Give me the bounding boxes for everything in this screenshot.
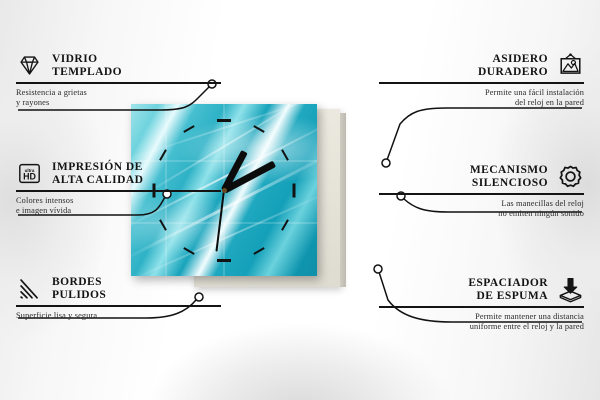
feature-divider (16, 82, 221, 84)
feature-heading: ASIDERO DURADERO (379, 52, 584, 79)
feature-impresion-alta-calidad: ultra HD IMPRESIÓN DE ALTA CALIDAD Color… (16, 160, 221, 216)
feature-divider (16, 305, 221, 307)
feature-sub-line1: Superficie lisa y segura (16, 311, 221, 321)
hour-mark (293, 183, 296, 197)
feature-title-line1: IMPRESIÓN DE (52, 161, 143, 174)
feature-title-line2: DE ESPUMA (468, 290, 548, 303)
feature-title-line2: TEMPLADO (52, 66, 122, 79)
feature-title-line1: ESPACIADOR (468, 277, 548, 290)
hour-mark (217, 259, 231, 262)
hour-mark (281, 219, 289, 230)
glass-grid (131, 222, 317, 224)
feature-divider (379, 306, 584, 308)
feature-title-line1: BORDES (52, 276, 106, 289)
feature-asidero-duradero: ASIDERO DURADERO Permite una fácil insta… (379, 52, 584, 108)
hour-mark (253, 247, 264, 255)
feature-divider (379, 82, 584, 84)
feature-title-line2: ALTA CALIDAD (52, 174, 143, 187)
feature-espaciador-de-espuma: ESPACIADOR DE ESPUMA Permite mantener un… (379, 276, 584, 332)
feature-sub-line2: uniforme entre el reloj y la pared (379, 322, 584, 332)
feature-divider (379, 193, 584, 195)
feature-sub-line2: del reloj en la pared (379, 98, 584, 108)
feature-title-line1: VIDRIO (52, 53, 122, 66)
hour-mark (183, 126, 194, 134)
infographic-canvas: VIDRIO TEMPLADO Resistencia a grietas y … (0, 0, 600, 400)
feature-title-line2: DURADERO (478, 66, 548, 79)
feature-mecanismo-silencioso: MECANISMO SILENCIOSO Las manecillas del … (379, 163, 584, 219)
feature-sub-line1: Las manecillas del reloj (379, 199, 584, 209)
wire-node-espaciador (374, 265, 382, 273)
feature-vidrio-templado: VIDRIO TEMPLADO Resistencia a grietas y … (16, 52, 221, 108)
hour-mark (281, 149, 289, 160)
diamond-icon (16, 52, 43, 79)
feature-title-line1: MECANISMO (470, 164, 548, 177)
feature-heading: ESPACIADOR DE ESPUMA (379, 276, 584, 303)
feature-sub-line1: Colores intensos (16, 196, 221, 206)
feature-sub-line1: Permite una fácil instalación (379, 88, 584, 98)
wire-asidero (387, 108, 582, 160)
feature-sub-line1: Resistencia a grietas (16, 88, 221, 98)
feature-bordes-pulidos: BORDES PULIDOS Superficie lisa y segura (16, 275, 221, 321)
feature-heading: ultra HD IMPRESIÓN DE ALTA CALIDAD (16, 160, 221, 187)
polished-edges-icon (16, 275, 43, 302)
feature-heading: VIDRIO TEMPLADO (16, 52, 221, 79)
hanging-frame-icon (557, 52, 584, 79)
feature-title-line1: ASIDERO (478, 53, 548, 66)
clock-hub (222, 188, 227, 193)
feature-heading: MECANISMO SILENCIOSO (379, 163, 584, 190)
feature-sub-line2: e imagen vívida (16, 206, 221, 216)
feature-sub-line2: y rayones (16, 98, 221, 108)
feature-title-line2: PULIDOS (52, 289, 106, 302)
gear-icon (557, 163, 584, 190)
feature-sub-line2: no emiten ningún sonido (379, 209, 584, 219)
foam-spacer-icon (557, 276, 584, 303)
feature-divider (16, 190, 221, 192)
ultra-hd-icon: ultra HD (16, 160, 43, 187)
hour-mark (217, 119, 231, 122)
feature-heading: BORDES PULIDOS (16, 275, 221, 302)
feature-title-line2: SILENCIOSO (470, 177, 548, 190)
feature-sub-line1: Permite mantener una distancia (379, 312, 584, 322)
ultra-hd-icon-main: HD (23, 171, 36, 181)
